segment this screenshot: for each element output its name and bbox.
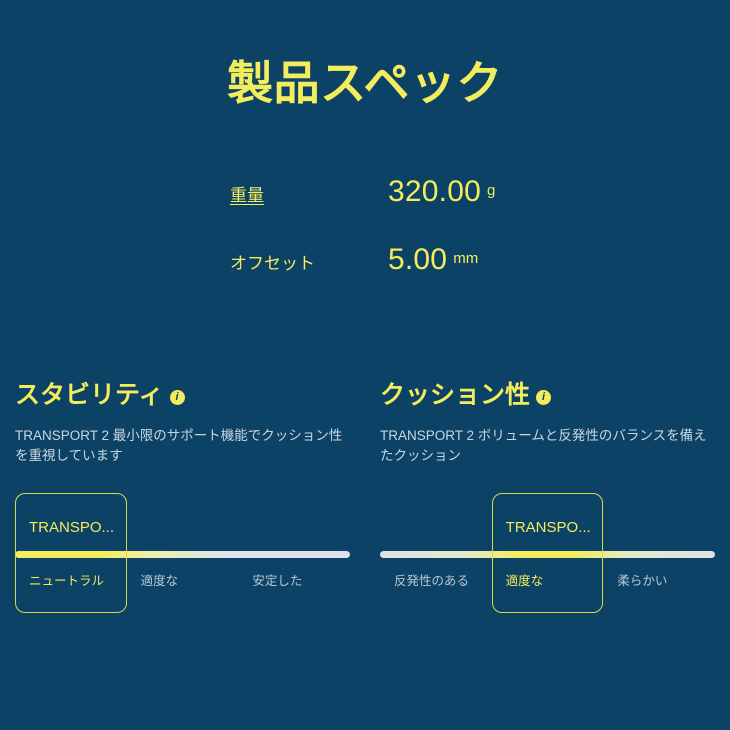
stability-segment-label-2: 安定した (252, 570, 302, 589)
spec-value-group-weight: 320.00g (388, 175, 495, 209)
cushioning-scale: 反発性のある TRANSPO... 適度な 柔らかい (380, 493, 715, 613)
panel-cushioning-description: TRANSPORT 2 ボリュームと反発性のバランスを備えたクッション (380, 426, 715, 468)
stability-marker-label: TRANSPO... (29, 519, 114, 536)
cushioning-active-marker-box (492, 493, 604, 613)
stability-scale-segments: TRANSPO... ニュートラル 適度な 安定した (15, 493, 350, 613)
cushioning-segment-box-2 (603, 493, 715, 613)
spec-label-weight: 重量 (230, 181, 388, 206)
panel-stability-description: TRANSPORT 2 最小限のサポート機能でクッション性を重視しています (15, 426, 350, 468)
spec-value-offset: 5.00 (388, 243, 447, 276)
spec-label-offset: オフセット (230, 249, 388, 274)
stability-segment-box-2 (238, 493, 350, 613)
panel-stability: スタビリティ i TRANSPORT 2 最小限のサポート機能でクッション性を重… (0, 382, 365, 613)
spec-row: オフセット 5.00mm (230, 243, 560, 311)
cushioning-marker-label: TRANSPO... (506, 519, 591, 536)
stability-segment-2[interactable]: 安定した (238, 493, 350, 613)
cushioning-scale-segments: 反発性のある TRANSPO... 適度な 柔らかい (380, 493, 715, 613)
info-icon[interactable]: i (170, 390, 185, 405)
cushioning-segment-1[interactable]: TRANSPO... 適度な (492, 493, 604, 613)
cushioning-segment-label-0: 反発性のある (394, 570, 469, 589)
attribute-panels: スタビリティ i TRANSPORT 2 最小限のサポート機能でクッション性を重… (0, 382, 730, 613)
stability-segment-1[interactable]: 適度な (127, 493, 239, 613)
panel-cushioning-title: クッション性 (380, 382, 530, 410)
panel-stability-title: スタビリティ (15, 382, 164, 410)
stability-active-marker-box (15, 493, 127, 613)
cushioning-segment-box-0 (380, 493, 492, 613)
stability-segment-label-1: 適度な (141, 570, 179, 589)
panel-stability-header: スタビリティ i (15, 382, 350, 410)
cushioning-segment-label-2: 柔らかい (617, 570, 667, 589)
spec-value-weight: 320.00 (388, 175, 481, 208)
spec-row: 重量 320.00g (230, 175, 560, 243)
page-title: 製品スペック (0, 58, 730, 109)
cushioning-segment-2[interactable]: 柔らかい (603, 493, 715, 613)
cushioning-segment-0[interactable]: 反発性のある (380, 493, 492, 613)
spec-unit-weight: g (487, 182, 495, 199)
stability-segment-0[interactable]: TRANSPO... ニュートラル (15, 493, 127, 613)
info-icon[interactable]: i (536, 390, 551, 405)
spec-table: 重量 320.00g オフセット 5.00mm (230, 175, 560, 311)
stability-scale: TRANSPO... ニュートラル 適度な 安定した (15, 493, 350, 613)
spec-unit-offset: mm (453, 250, 478, 267)
stability-segment-label-0: ニュートラル (29, 570, 104, 589)
spec-value-group-offset: 5.00mm (388, 243, 478, 277)
panel-cushioning-header: クッション性 i (380, 382, 715, 410)
cushioning-segment-label-1: 適度な (506, 570, 544, 589)
stability-segment-box-1 (127, 493, 239, 613)
panel-cushioning: クッション性 i TRANSPORT 2 ボリュームと反発性のバランスを備えたク… (365, 382, 730, 613)
